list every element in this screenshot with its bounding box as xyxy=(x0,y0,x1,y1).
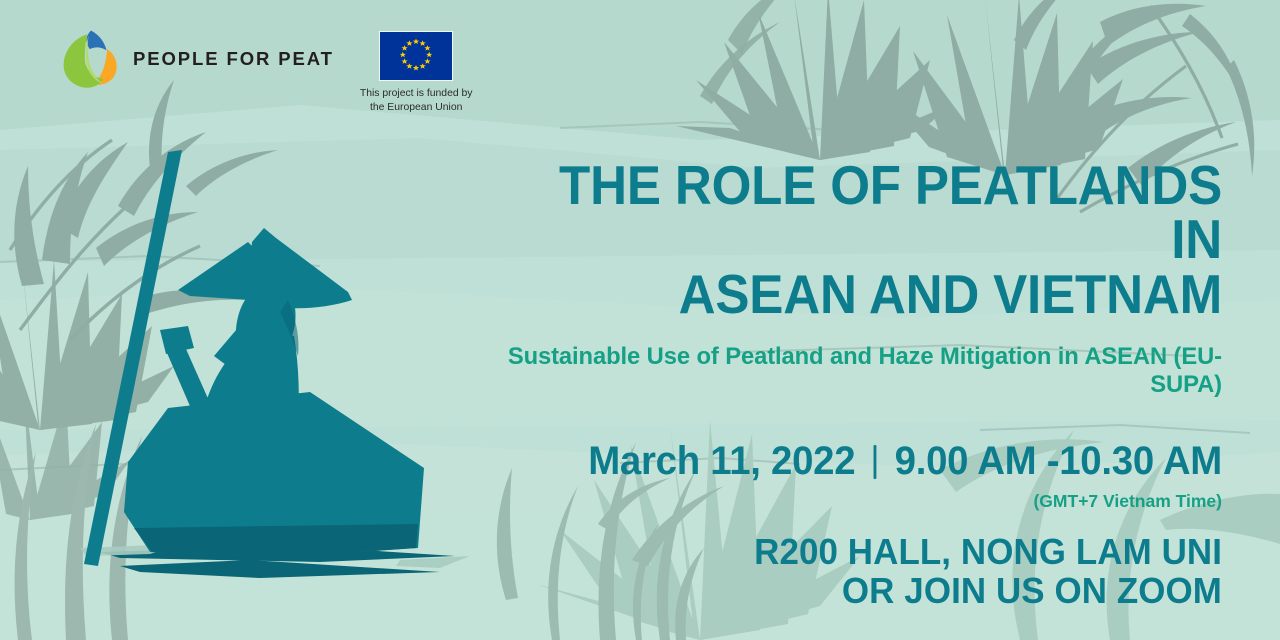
logo-block: PEOPLE FOR PEAT xyxy=(60,28,472,115)
eu-funding-caption: This project is funded by the European U… xyxy=(360,87,473,115)
event-banner: PEOPLE FOR PEAT xyxy=(0,0,1280,640)
event-datetime: March 11, 2022 9.00 AM -10.30 AM xyxy=(483,439,1222,484)
european-union-block: This project is funded by the European U… xyxy=(360,28,473,115)
event-subtitle: Sustainable Use of Peatland and Haze Mit… xyxy=(475,343,1222,399)
page-title: THE ROLE OF PEATLANDS IN ASEAN AND VIETN… xyxy=(506,158,1222,321)
event-timezone: (GMT+7 Vietnam Time) xyxy=(452,491,1222,512)
event-details: THE ROLE OF PEATLANDS IN ASEAN AND VIETN… xyxy=(452,158,1222,611)
european-union-flag xyxy=(379,31,453,81)
people-for-peat-logo[interactable]: PEOPLE FOR PEAT xyxy=(60,28,334,90)
event-date: March 11, 2022 xyxy=(588,439,855,484)
event-time: 9.00 AM -10.30 AM xyxy=(895,439,1222,484)
datetime-separator xyxy=(874,445,877,479)
event-venue: R200 HALL, NONG LAM UNI OR JOIN US ON ZO… xyxy=(475,533,1222,611)
people-for-peat-wordmark: PEOPLE FOR PEAT xyxy=(133,48,334,70)
people-for-peat-leaf-circle-logo xyxy=(60,28,122,90)
